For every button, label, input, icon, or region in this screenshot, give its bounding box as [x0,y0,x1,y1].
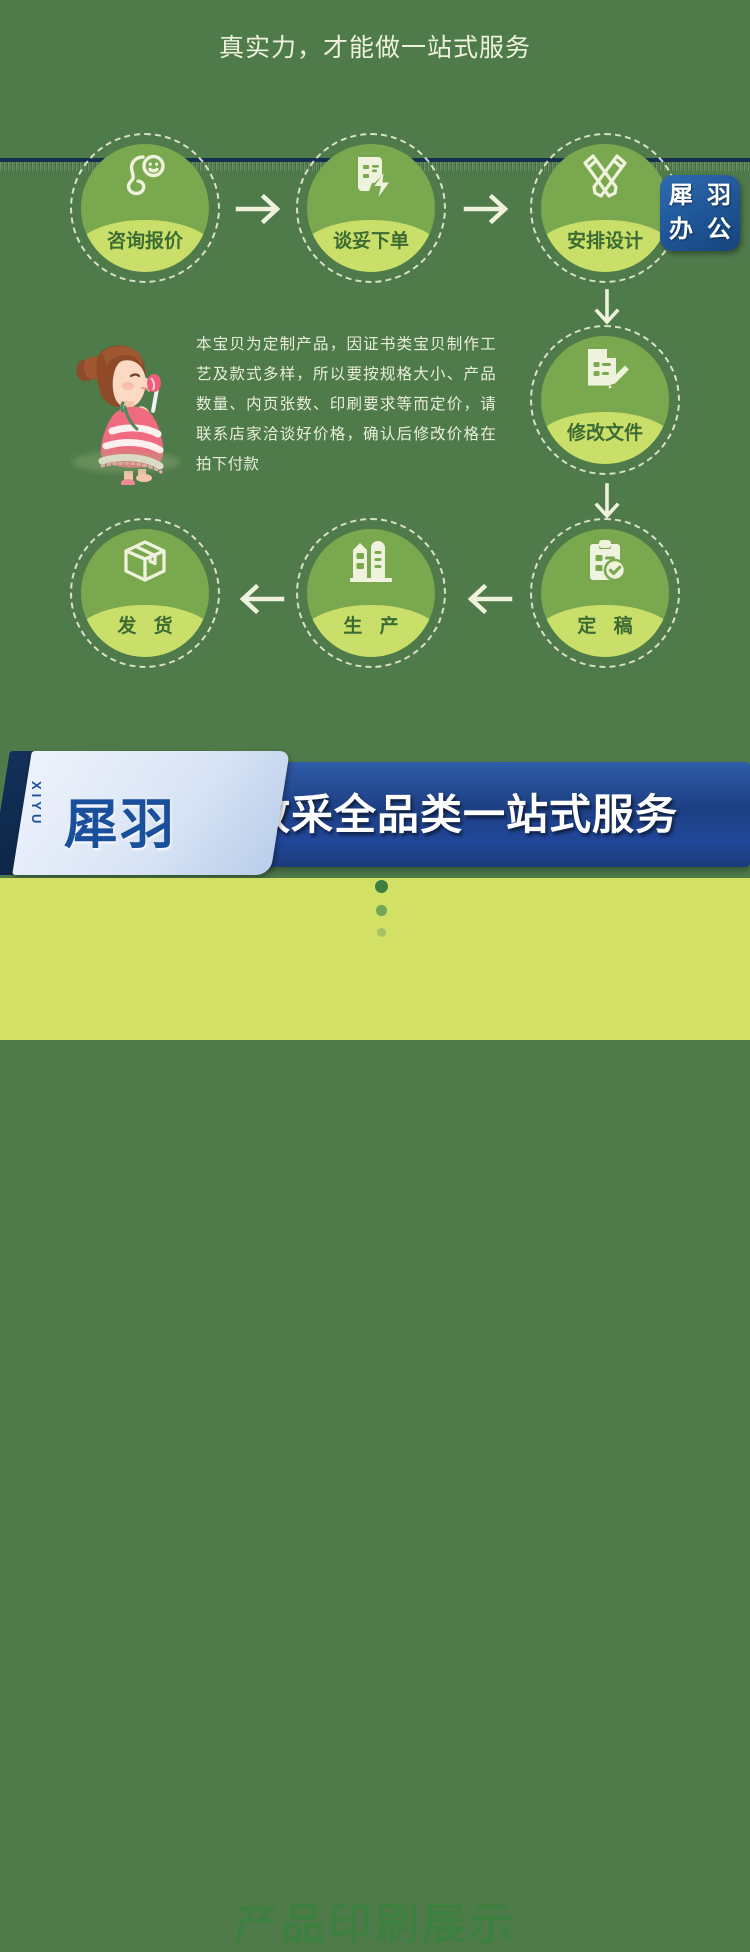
pencil-ruler-icon [530,153,680,205]
arrow-right-icon [234,188,286,235]
arrow-down-icon [592,482,622,527]
flow-node-label: 生 产 [296,611,446,638]
badge-char: 办 [662,213,700,247]
logo-latin-text: XIYU [29,781,44,827]
badge-char: 公 [700,213,738,247]
package-box-icon [70,538,220,588]
flow-node-label: 定 稿 [530,611,680,638]
flow-node-label: 发 货 [70,611,220,638]
girl-illustration [68,333,188,485]
banner-slogan: 政采全品类一站式服务 [248,781,748,842]
brand-badge[interactable]: 犀 羽 办 公 [660,175,740,251]
dot-medium [376,905,387,916]
arrow-left-icon [462,578,514,625]
flow-node-ship[interactable]: 发 货 [70,518,220,668]
flow-node-label: 修改文件 [530,418,680,445]
clipboard-check-icon [530,538,680,590]
page-root: 真实力，才能做一站式服务 咨询报价 [0,0,750,1040]
flow-node-label: 咨询报价 [70,226,220,253]
brand-banner: 政采全品类一站式服务 XIYU 犀羽 [0,745,750,880]
logo-chinese-text: 犀羽 [64,780,176,859]
flow-node-label: 谈妥下单 [296,226,446,253]
arrow-right-icon [462,188,514,235]
badge-char: 犀 [662,179,700,213]
document-edit-icon [530,345,680,396]
badge-char: 羽 [700,179,738,213]
arrow-left-icon [234,578,286,625]
phone-support-icon [70,153,220,203]
flow-node-design[interactable]: 安排设计 [530,133,680,283]
flow-node-revise[interactable]: 修改文件 [530,325,680,475]
process-panel: 真实力，才能做一站式服务 咨询报价 [0,0,750,745]
factory-icon [296,538,446,587]
arrow-down-icon [592,288,622,333]
decorative-dots [0,880,750,950]
dot-small [377,928,386,937]
page-title: 真实力，才能做一站式服务 [0,28,750,64]
section-title: 产品印刷展示 [0,1888,750,1952]
flow-node-final[interactable]: 定 稿 [530,518,680,668]
order-form-icon [296,153,446,203]
dot-large [375,880,388,893]
flow-node-label: 安排设计 [530,226,680,253]
flow-node-order[interactable]: 谈妥下单 [296,133,446,283]
flow-node-inquire[interactable]: 咨询报价 [70,133,220,283]
flow-node-produce[interactable]: 生 产 [296,518,446,668]
custom-product-note: 本宝贝为定制产品，因证书类宝贝制作工艺及款式多样，所以要按规格大小、产品数量、内… [196,330,496,480]
